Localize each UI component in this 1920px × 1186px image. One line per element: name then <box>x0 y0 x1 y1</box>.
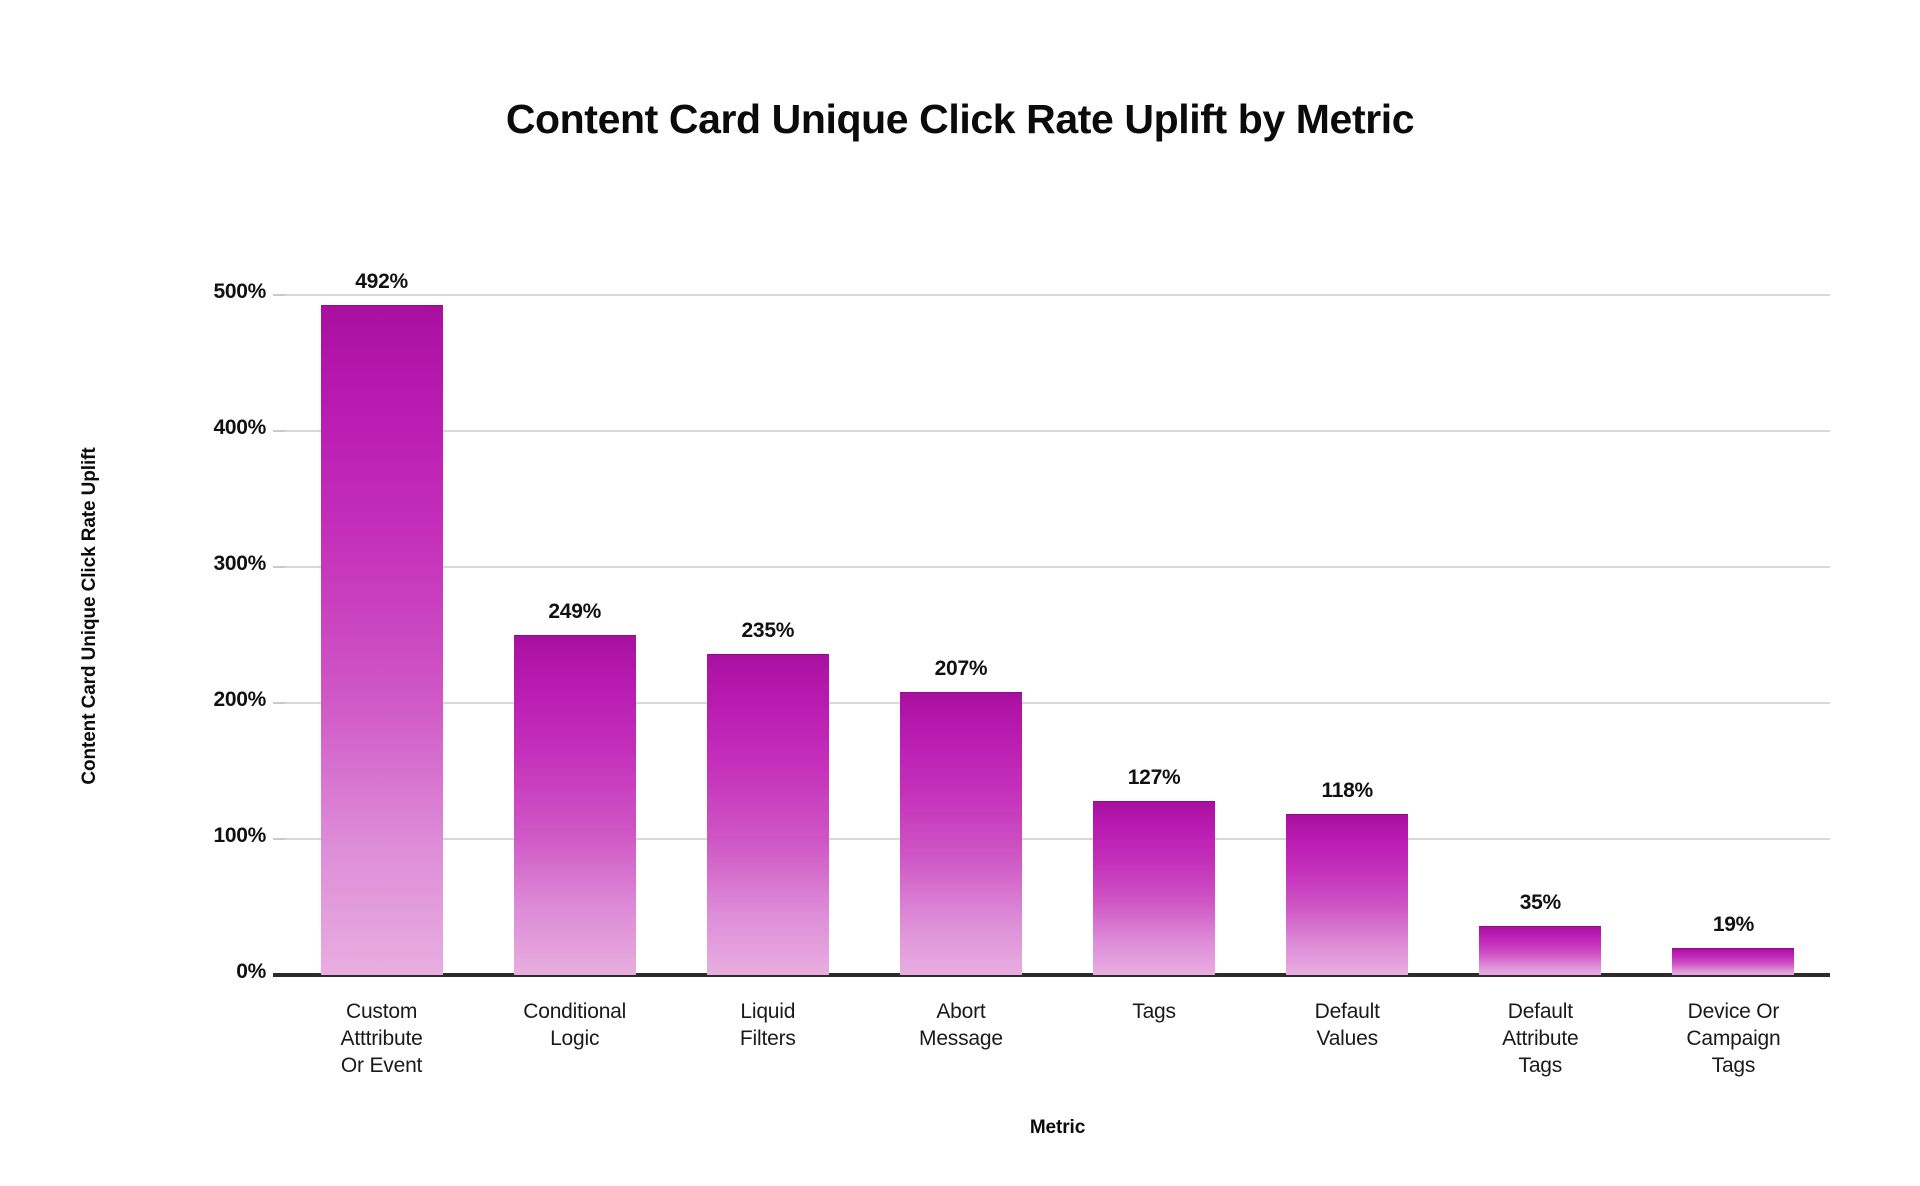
category-label-line: Or Event <box>285 1052 478 1079</box>
bar-value-label: 235% <box>742 619 795 643</box>
category-label-line: Default <box>1251 998 1444 1025</box>
bar-value-label: 127% <box>1128 766 1181 790</box>
bar[interactable] <box>514 635 636 975</box>
bar-value-label: 207% <box>935 657 988 681</box>
x-axis-category-label: LiquidFilters <box>671 998 864 1052</box>
bar-value-label: 492% <box>355 270 408 294</box>
y-axis-tick-mark <box>273 702 285 704</box>
page-title: Content Card Unique Click Rate Uplift by… <box>0 96 1920 143</box>
bar-slot: 492% <box>285 295 478 975</box>
bar-value-label: 249% <box>548 600 601 624</box>
y-axis-tick-mark <box>273 430 285 432</box>
y-axis-tick-label: 300% <box>106 552 266 576</box>
y-axis-tick-mark <box>273 838 285 840</box>
bar-value-label: 118% <box>1322 779 1373 803</box>
bar-slot: 118% <box>1251 295 1444 975</box>
bar[interactable] <box>707 654 829 975</box>
x-axis-category-label: CustomAtttributeOr Event <box>285 998 478 1079</box>
y-axis-tick-label: 400% <box>106 416 266 440</box>
y-axis-tick-label: 100% <box>106 824 266 848</box>
category-label-line: Custom <box>285 998 478 1025</box>
bar[interactable] <box>1479 926 1601 975</box>
category-label-line: Abort <box>864 998 1057 1025</box>
chart-figure: Content Card Unique Click Rate Uplift by… <box>0 0 1920 1186</box>
bar-value-label: 35% <box>1520 891 1561 915</box>
x-axis-category-label: ConditionalLogic <box>478 998 671 1052</box>
bar-slot: 207% <box>864 295 1057 975</box>
x-axis-category-label: DefaultAttributeTags <box>1444 998 1637 1079</box>
bar[interactable] <box>1672 948 1794 975</box>
category-label-line: Tags <box>1637 1052 1830 1079</box>
bar-value-label: 19% <box>1713 913 1754 937</box>
bar-slot: 249% <box>478 295 671 975</box>
category-label-line: Atttribute <box>285 1025 478 1052</box>
x-axis-title: Metric <box>285 1117 1830 1139</box>
y-axis-tick-mark <box>273 566 285 568</box>
category-label-line: Conditional <box>478 998 671 1025</box>
category-label-line: Tags <box>1444 1052 1637 1079</box>
plot-area: 492%249%235%207%127%118%35%19% <box>285 295 1830 975</box>
bar-slot: 35% <box>1444 295 1637 975</box>
bar-slot: 19% <box>1637 295 1830 975</box>
y-axis-tick-label: 200% <box>106 688 266 712</box>
category-label-line: Filters <box>671 1025 864 1052</box>
bar-slot: 235% <box>671 295 864 975</box>
y-axis-tick-label: 0% <box>106 960 266 984</box>
category-label-line: Values <box>1251 1025 1444 1052</box>
category-label-line: Message <box>864 1025 1057 1052</box>
category-label-line: Campaign <box>1637 1025 1830 1052</box>
y-axis-tick-label: 500% <box>106 280 266 304</box>
category-label-line: Device Or <box>1637 998 1830 1025</box>
x-axis-category-label: Device OrCampaignTags <box>1637 998 1830 1079</box>
bar[interactable] <box>900 692 1022 975</box>
x-axis-category-label: Tags <box>1058 998 1251 1025</box>
category-label-line: Liquid <box>671 998 864 1025</box>
y-axis-tick-mark <box>273 294 285 296</box>
category-label-line: Tags <box>1058 998 1251 1025</box>
y-axis-title: Content Card Unique Click Rate Uplift <box>79 356 101 876</box>
x-axis-category-label: AbortMessage <box>864 998 1057 1052</box>
category-label-line: Attribute <box>1444 1025 1637 1052</box>
x-axis-category-label: DefaultValues <box>1251 998 1444 1052</box>
category-label-line: Default <box>1444 998 1637 1025</box>
bar[interactable] <box>1286 814 1408 975</box>
bar[interactable] <box>321 305 443 975</box>
category-label-line: Logic <box>478 1025 671 1052</box>
bar-slot: 127% <box>1058 295 1251 975</box>
bar[interactable] <box>1093 801 1215 975</box>
